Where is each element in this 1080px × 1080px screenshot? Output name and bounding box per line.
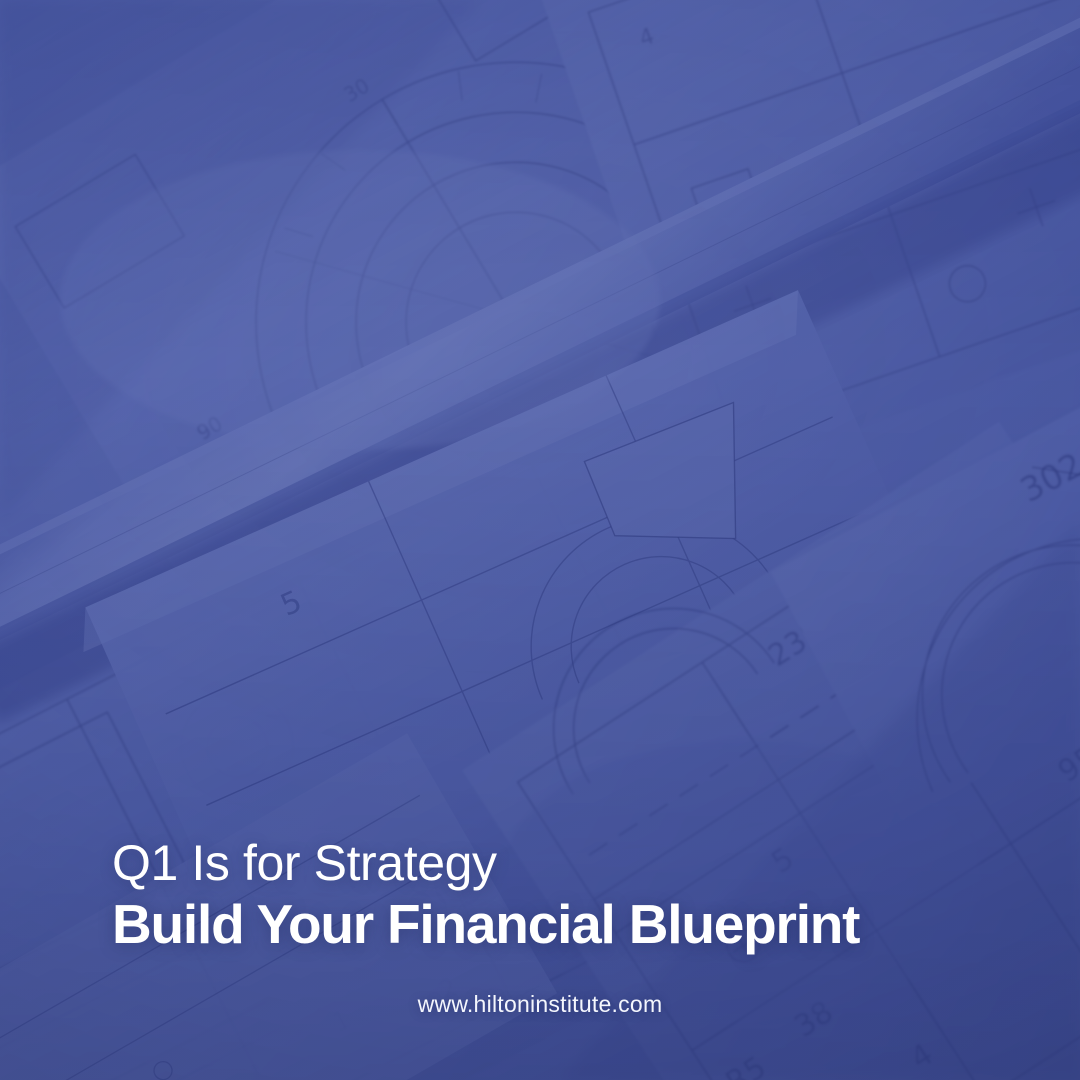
headline-line-2: Build Your Financial Blueprint bbox=[112, 895, 968, 953]
copy-block: Q1 Is for Strategy Build Your Financial … bbox=[112, 838, 968, 1018]
headline-line-1: Q1 Is for Strategy bbox=[112, 838, 968, 888]
website-url[interactable]: www.hiltoninstitute.com bbox=[112, 991, 968, 1018]
poster-canvas: 200 1 2 bbox=[0, 0, 1080, 1080]
